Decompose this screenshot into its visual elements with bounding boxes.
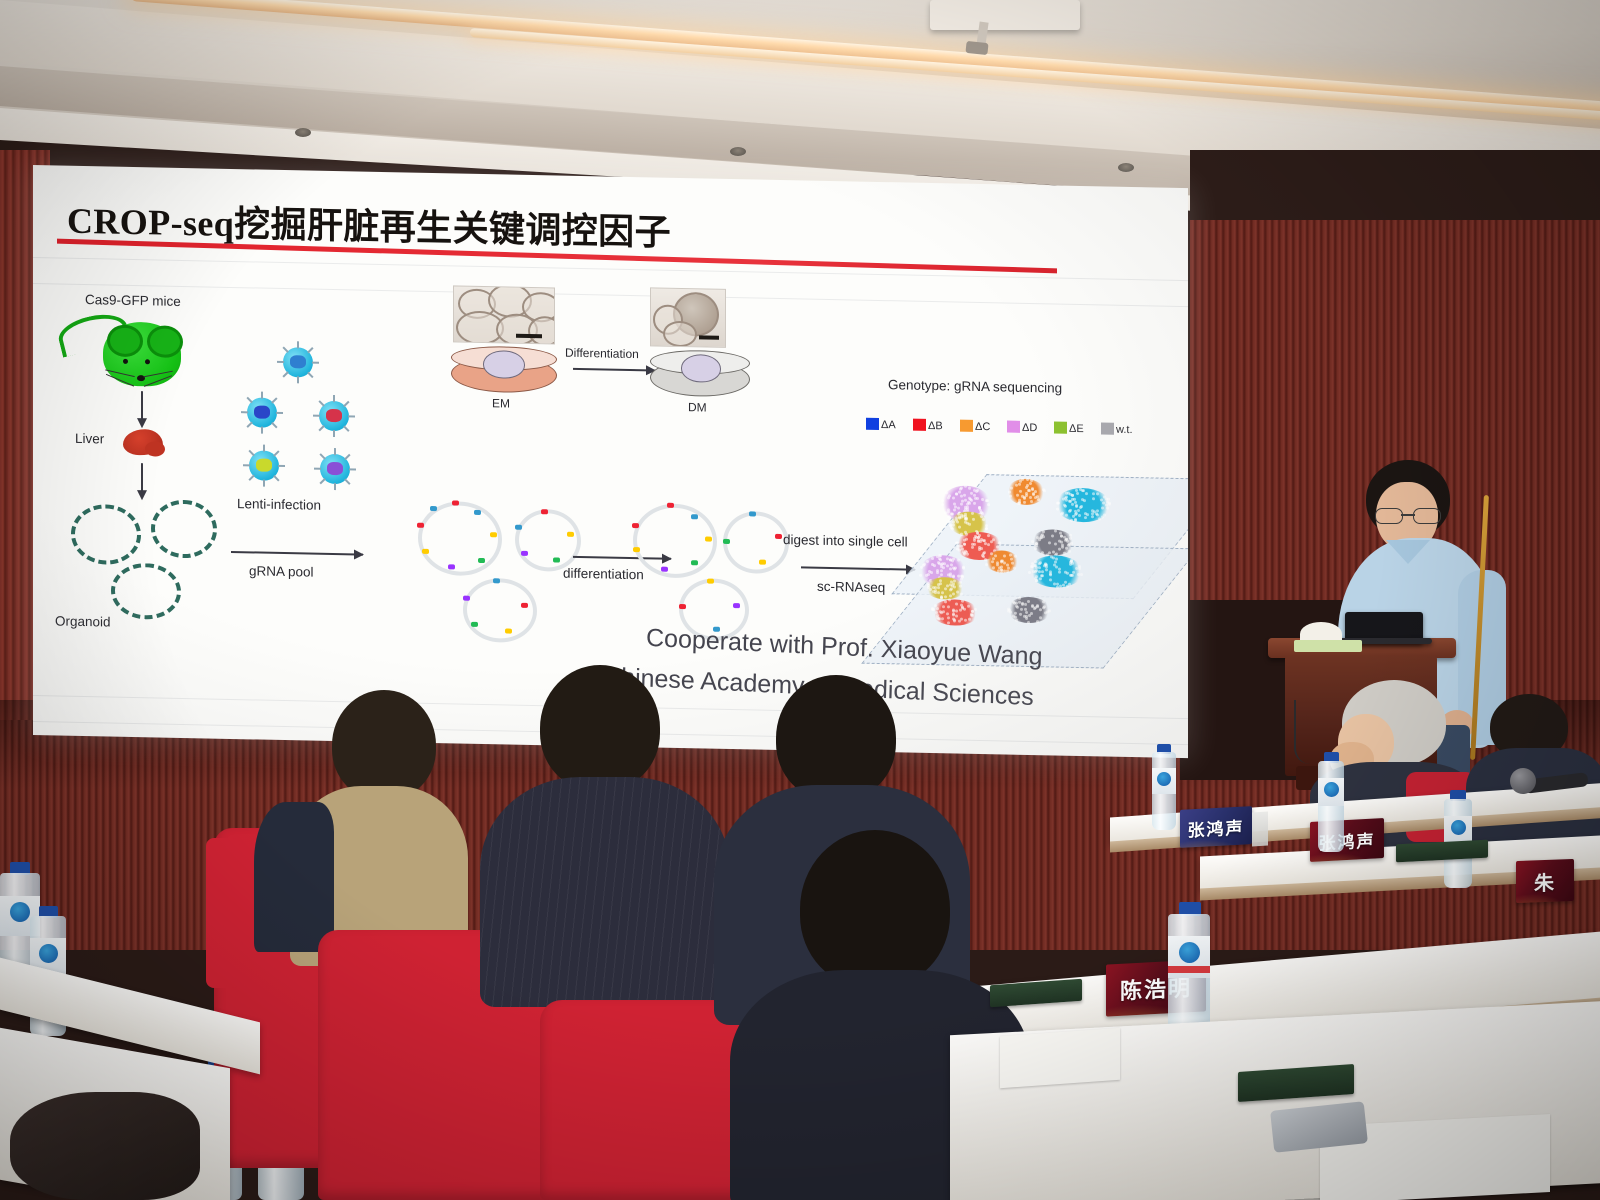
legend-label-db: ΔB <box>928 420 943 432</box>
plasmid-ring-4 <box>633 503 717 579</box>
virus-particle-5 <box>320 454 350 485</box>
virus-particle-1 <box>283 347 313 378</box>
red-chair-1-arm <box>206 838 240 988</box>
virus-core-5 <box>327 462 343 475</box>
podium-cable <box>1294 700 1310 764</box>
bottle-logo-1 <box>1157 772 1171 786</box>
organoid-1 <box>71 504 141 565</box>
audience-member-2 <box>500 665 710 965</box>
tsne-cluster-cyan-top <box>1055 488 1111 523</box>
micrograph-dm <box>650 287 726 348</box>
label-differentiation-upper: Differentiation <box>565 346 639 361</box>
label-cas9-gfp-mice: Cas9-GFP mice <box>85 292 181 309</box>
legend-label-wt: w.t. <box>1116 424 1133 436</box>
legend-swatch-dc <box>960 420 973 432</box>
label-liver: Liver <box>75 431 104 447</box>
liver-lobe <box>145 441 165 456</box>
virus-particle-2 <box>247 397 277 428</box>
label-genotype-heading: Genotype: gRNA sequencing <box>888 377 1062 395</box>
label-dm: DM <box>688 400 707 414</box>
speaker-glasses <box>1375 508 1441 522</box>
legend-label-dd: ΔD <box>1022 422 1037 434</box>
virus-core-4 <box>256 458 272 471</box>
legend-label-dc: ΔC <box>975 421 990 433</box>
name-card-zhu: 朱 <box>1516 859 1574 903</box>
legend-label-de: ΔE <box>1069 423 1084 435</box>
tsne-cluster-orange-bottom <box>985 550 1019 573</box>
virus-particle-4 <box>249 450 279 481</box>
tsne-cluster-gray-bottom <box>1007 597 1051 624</box>
audience-2-body <box>480 777 730 1007</box>
audience-2-head <box>540 665 660 791</box>
name-card-text-3: 朱 <box>1534 866 1556 896</box>
projector-lens <box>965 41 988 55</box>
name-card-stand-1 <box>1252 811 1268 846</box>
label-organoid: Organoid <box>55 613 111 629</box>
water-bottle-2 <box>1318 752 1344 852</box>
tsne-stack <box>903 472 1163 657</box>
wall-upper-right-dark <box>1190 150 1600 220</box>
mesh-chair-4[interactable] <box>990 860 1110 970</box>
name-card-text-1: 张鸿声 <box>1188 813 1245 841</box>
bottle-body-2 <box>1318 761 1344 852</box>
mouse-ear-right <box>147 325 183 358</box>
conference-room-photo: CROP-seq挖掘肝脏再生关键调控因子 Cas9-GFP mice Liver <box>0 0 1600 1200</box>
downlight-3 <box>1118 163 1134 172</box>
virus-core-2 <box>254 405 270 418</box>
plasmid-ring-3 <box>463 578 537 643</box>
bottle-logo-3 <box>1451 820 1466 835</box>
tsne-cluster-cyan-bottom <box>1029 555 1083 588</box>
downlight-2 <box>730 147 746 156</box>
downlight-1 <box>295 128 311 137</box>
bottle-red-stripe-4 <box>1168 966 1210 973</box>
virus-particle-3 <box>319 401 349 432</box>
plasmid-ring-1 <box>418 501 502 577</box>
mouse-eye-left <box>123 359 128 364</box>
dish-em-organoid <box>483 350 525 379</box>
arrow-differentiation-upper <box>573 368 655 372</box>
coat-on-table <box>10 1092 200 1200</box>
audience-3-head <box>776 675 896 801</box>
legend-swatch-wt <box>1101 422 1114 434</box>
paper-sheet-1 <box>1000 1028 1120 1088</box>
organoid-2 <box>151 499 217 558</box>
arrow-liver-to-organoid <box>141 463 143 491</box>
audience-1-head <box>332 690 436 800</box>
label-digest-into-single-cell: digest into single cell <box>783 532 908 550</box>
water-bottle-1 <box>1152 744 1176 830</box>
bottle-logo-2 <box>1324 782 1339 797</box>
legend-swatch-da <box>866 418 879 430</box>
audience-1-shoulder-dark <box>254 802 334 952</box>
bottle-logo-4 <box>1179 942 1200 963</box>
name-card-zhang-hongsheng: 张鸿声 <box>1180 806 1252 848</box>
tsne-cluster-orange-top <box>1007 479 1045 506</box>
water-bottle-3 <box>1444 790 1472 888</box>
label-sc-rnaseq: sc-RNAseq <box>817 579 885 595</box>
tsne-cluster-red-bottom <box>931 599 979 626</box>
arrow-sc-rnaseq <box>801 566 915 570</box>
bottle-logo-6 <box>10 902 30 922</box>
dish-dm-organoid <box>681 354 721 383</box>
microphone-head <box>1510 768 1536 794</box>
tissue-box <box>1294 640 1362 652</box>
arrow-mouse-to-liver <box>141 391 143 419</box>
legend-label-da: ΔA <box>881 419 896 431</box>
virus-core-1 <box>290 355 306 368</box>
tsne-cluster-gray-top <box>1031 529 1075 556</box>
audience-member-1 <box>290 690 460 940</box>
mouse-eye-right <box>145 359 150 364</box>
plasmid-ring-2 <box>515 509 581 572</box>
label-differentiation-lower: differentiation <box>563 566 644 583</box>
mouse-ear-left <box>107 324 143 357</box>
arrow-grna-pool <box>231 551 363 556</box>
micrograph-em <box>453 285 555 344</box>
plasmid-ring-5 <box>723 511 789 574</box>
legend-swatch-db <box>913 419 926 431</box>
legend-swatch-dd <box>1007 421 1020 433</box>
label-grna-pool: gRNA pool <box>249 563 314 579</box>
bottle-logo-7 <box>39 944 58 963</box>
audience-4-head <box>800 830 950 988</box>
virus-core-3 <box>326 409 342 422</box>
label-em: EM <box>492 396 510 410</box>
label-lenti-infection: Lenti-infection <box>237 496 321 513</box>
tsne-cluster-olive-bottom <box>925 577 965 600</box>
organoid-3 <box>111 563 181 620</box>
ceiling-projector <box>930 0 1080 30</box>
legend-swatch-de <box>1054 421 1067 433</box>
